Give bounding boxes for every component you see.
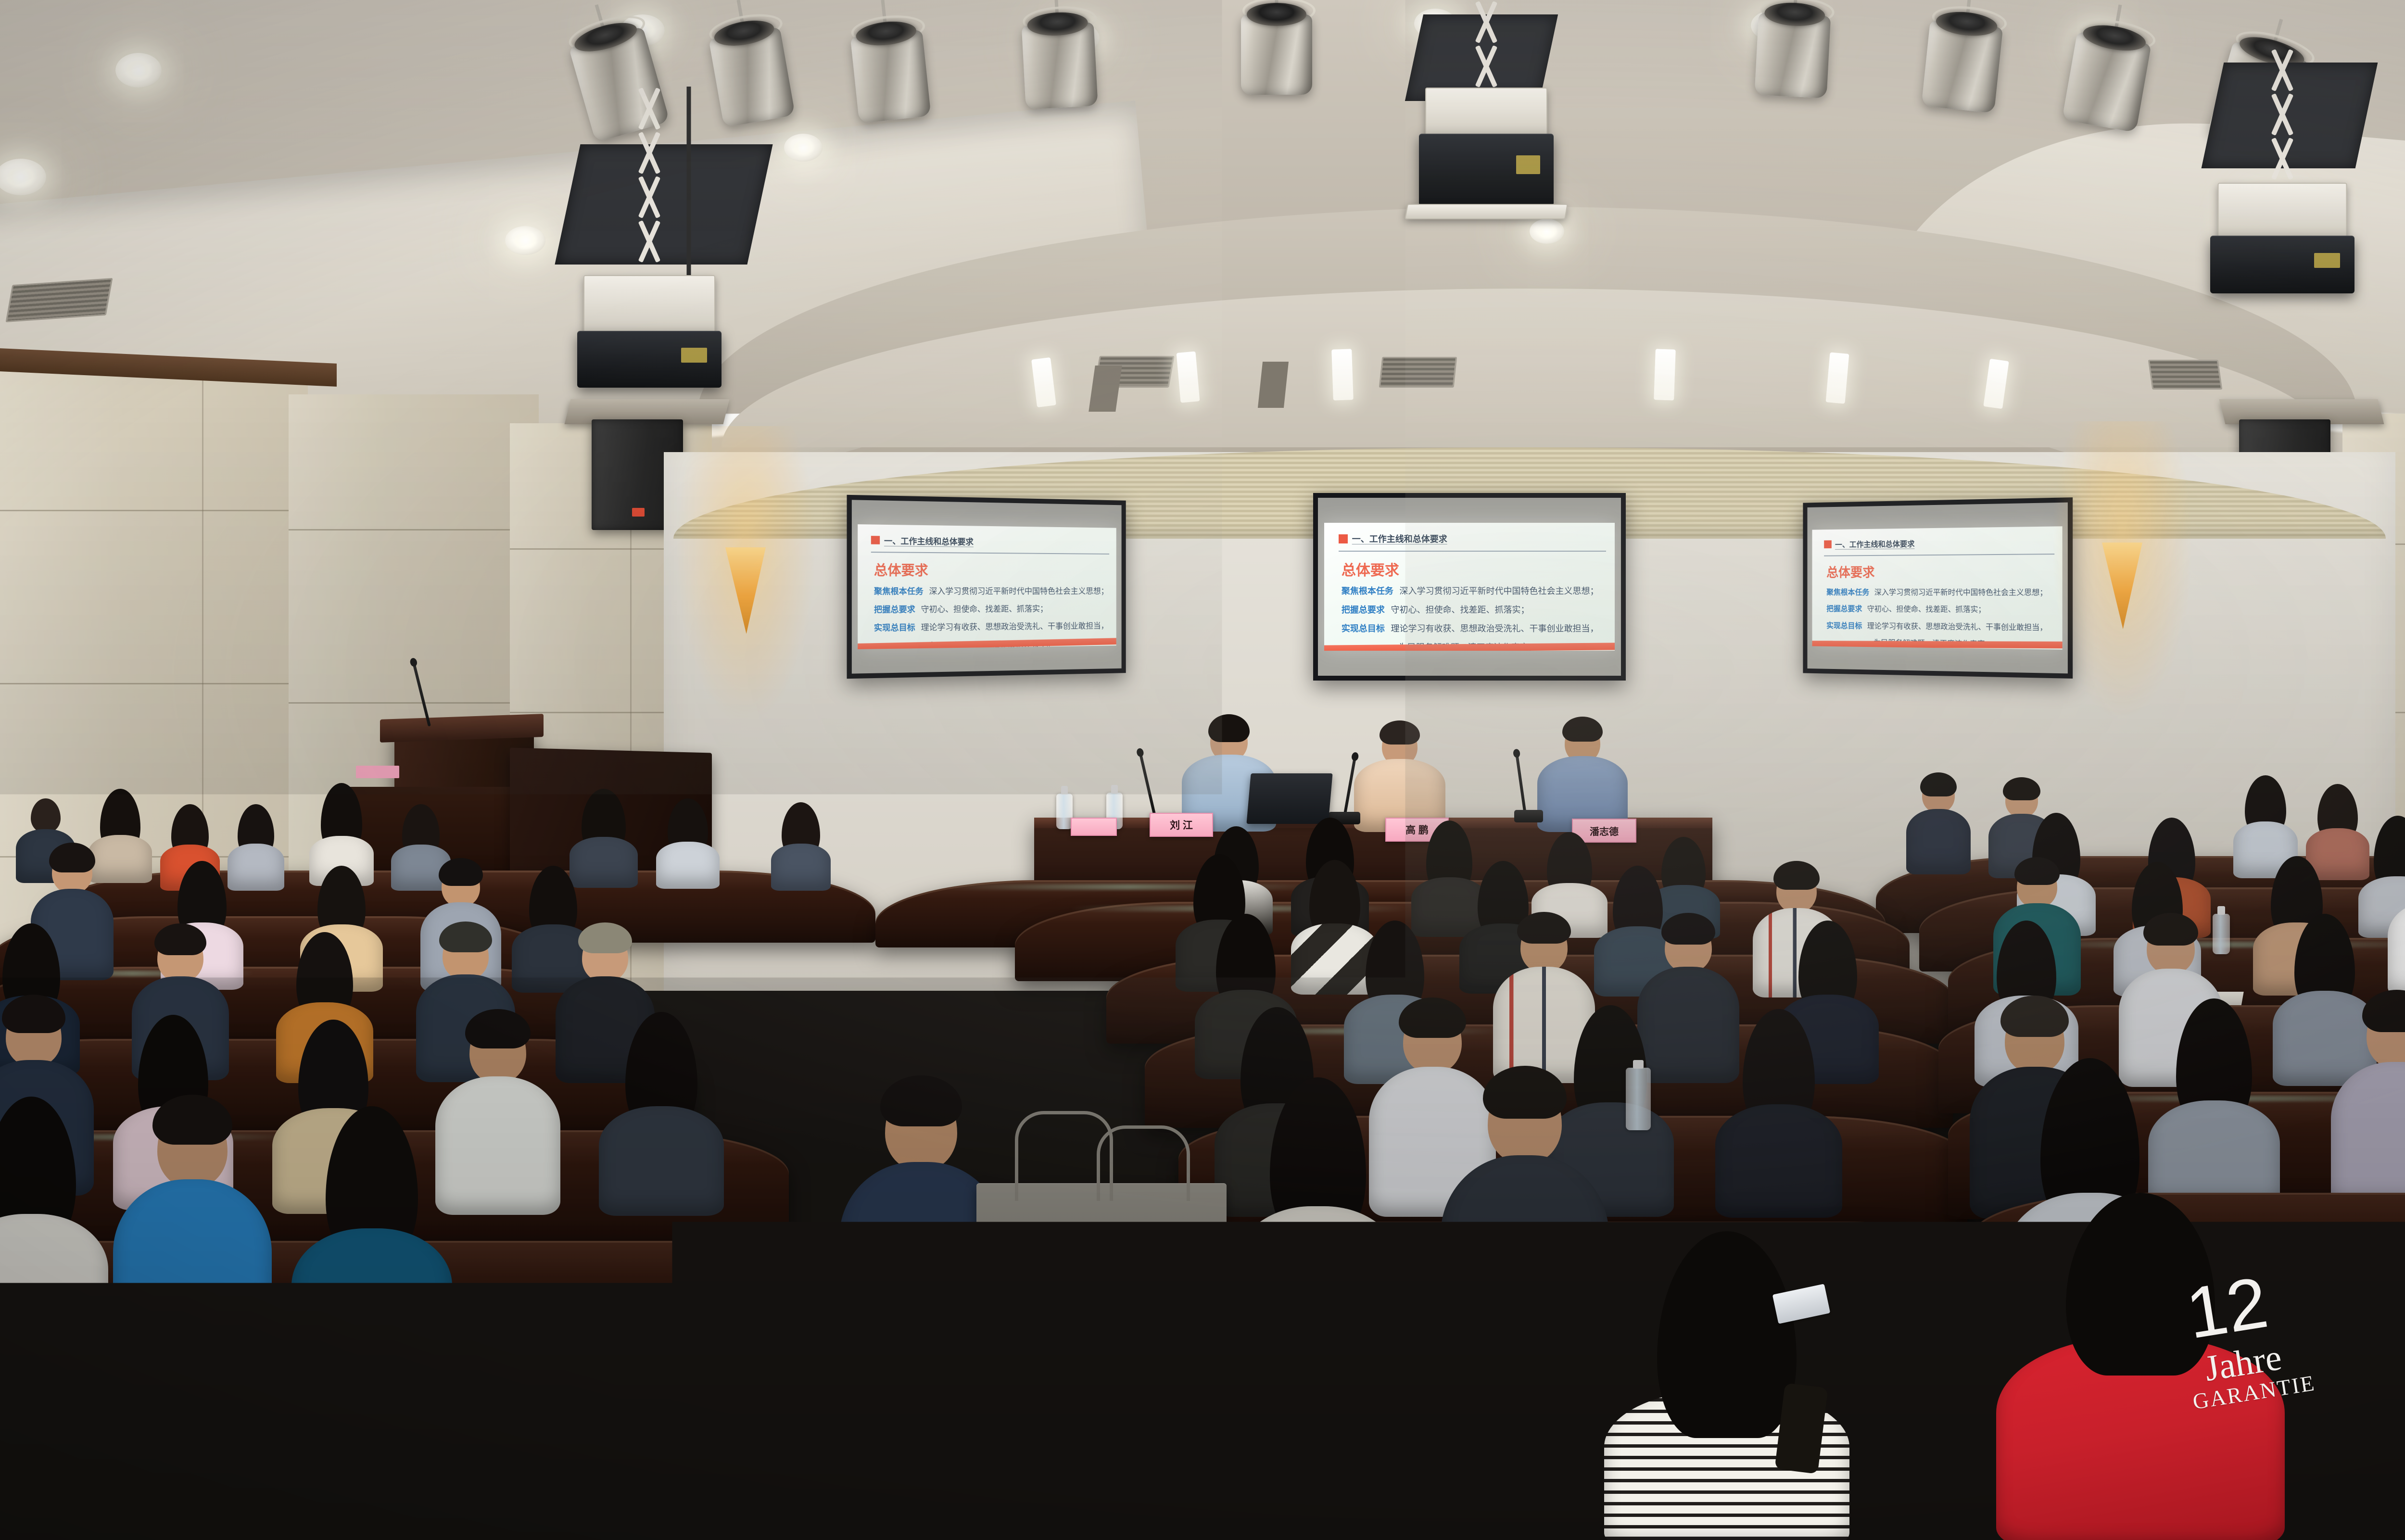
hair	[1657, 1231, 1797, 1438]
presenter-3	[1530, 717, 1635, 831]
projection-screen-right: 一、工作主线和总体要求 总体要求 聚焦根本任务 深入学习贯彻习近平新时代中国特色…	[1803, 497, 2073, 679]
slide-header-title: 一、工作主线和总体要求	[1352, 532, 1447, 545]
hvac-vent-icon	[5, 278, 113, 322]
slide-rows: 聚焦根本任务 深入学习贯彻习近平新时代中国特色社会主义思想； 把握总要求 守初心…	[1826, 585, 2051, 649]
slide-rows: 聚焦根本任务 深入学习贯彻习近平新时代中国特色社会主义思想； 把握总要求 守初心…	[1342, 584, 1603, 651]
slide-bullet-square	[871, 536, 880, 545]
laptop	[1246, 773, 1332, 824]
jacket-print: 12 Jahre GARANTIE	[2145, 1259, 2319, 1418]
slide-row: 实现总目标 理论学习有收获、思想政治受洗礼、干事创业敢担当，	[874, 619, 1107, 633]
slide-row: 聚焦根本任务 深入学习贯彻习近平新时代中国特色社会主义思想；	[1826, 585, 2051, 597]
stage-spotlight-icon	[1919, 0, 2006, 132]
projector-lift-right	[2203, 48, 2362, 356]
stage-spotlight-icon	[1754, 0, 1833, 115]
slide-rule	[1824, 554, 2054, 556]
slide-row: 把握总要求 守初心、担使命、找差距、抓落实；	[1826, 602, 2051, 615]
hair	[1208, 714, 1250, 742]
slide-row: 聚焦根本任务 深入学习贯彻习近平新时代中国特色社会主义思想；	[874, 584, 1107, 597]
slide-footer-bar	[1812, 641, 2063, 648]
hair	[1562, 717, 1603, 742]
downlight-icon	[505, 226, 545, 255]
audience-person	[596, 1012, 726, 1213]
wall-sconce-left	[725, 547, 766, 634]
projection-screen-center: 一、工作主线和总体要求 总体要求 聚焦根本任务 深入学习贯彻习近平新时代中国特色…	[1313, 493, 1626, 681]
audience-person-striped-top	[1602, 1231, 1852, 1540]
audience-person	[2386, 859, 2405, 995]
audience-person	[654, 798, 721, 885]
slide-rule	[1339, 551, 1606, 552]
downlight-icon	[784, 134, 823, 162]
slide-row: 实现总目标 理论学习有收获、思想政治受洗礼、干事创业敢担当，	[1826, 619, 2051, 632]
projector-icon	[2210, 236, 2354, 293]
slot-light-dark-panel	[1258, 362, 1289, 408]
slide-header-title: 一、工作主线和总体要求	[1835, 538, 1914, 550]
projector-lift-center	[1414, 0, 1558, 308]
audience-person-front	[1231, 1077, 1405, 1376]
audience-person	[770, 802, 832, 887]
microphone-base	[1514, 810, 1543, 822]
audience-person-front	[0, 1097, 111, 1366]
slide-row: 聚焦根本任务 深入学习贯彻习近平新时代中国特色社会主义思想；	[1342, 584, 1603, 597]
projection-screen-left: 一、工作主线和总体要求 总体要求 聚焦根本任务 深入学习贯彻习近平新时代中国特色…	[847, 495, 1126, 679]
lecture-hall-photo: 一、工作主线和总体要求 总体要求 聚焦根本任务 深入学习贯彻习近平新时代中国特色…	[0, 0, 2405, 1540]
slot-light-icon	[1331, 349, 1354, 400]
slide-right: 一、工作主线和总体要求 总体要求 聚焦根本任务 深入学习贯彻习近平新时代中国特色…	[1812, 527, 2063, 650]
audience-person	[2328, 996, 2405, 1220]
slide-row: 把握总要求 守初心、担使命、找差距、抓落实；	[874, 602, 1107, 615]
audience-person-front	[289, 1106, 455, 1385]
projector-icon	[577, 331, 721, 388]
wall-sconce-right	[2102, 543, 2142, 629]
slide-heading: 总体要求	[1342, 558, 1399, 580]
audience-person-front	[111, 1101, 274, 1380]
stage-spotlight-icon	[1020, 0, 1099, 127]
slide-bullet-square	[1339, 534, 1348, 543]
slide-row: 实现总目标 理论学习有收获、思想政治受洗礼、干事创业敢担当，	[1342, 622, 1603, 634]
audience-person-front	[1438, 1073, 1611, 1376]
slide-header-title: 一、工作主线和总体要求	[884, 534, 974, 547]
audience-person	[1905, 774, 1972, 871]
slide-heading: 总体要求	[1826, 562, 1874, 581]
slide-center: 一、工作主线和总体要求 总体要求 聚焦根本任务 深入学习贯彻习近平新时代中国特色…	[1324, 523, 1615, 651]
slide-bullet-square	[1824, 540, 1831, 548]
stage-spotlight-icon	[847, 0, 933, 142]
slide-row: 把握总要求 守初心、担使命、找差距、抓落实；	[1342, 603, 1603, 616]
projector-lift-left	[568, 87, 731, 394]
water-bottle	[1626, 1068, 1651, 1130]
slide-left: 一、工作主线和总体要求 总体要求 聚焦根本任务 深入学习贯彻习近平新时代中国特色…	[858, 524, 1116, 649]
name-card-label: 刘 江	[1170, 818, 1193, 832]
hvac-vent-icon	[1379, 357, 1457, 388]
handbag-handle	[1097, 1125, 1190, 1201]
name-card-blank	[1071, 818, 1117, 836]
presenter-2	[1347, 720, 1453, 831]
namecard-pink-lectern	[356, 766, 399, 778]
slide-rule	[871, 552, 1109, 555]
downlight-icon	[115, 53, 162, 88]
projector-icon	[1419, 134, 1554, 206]
hvac-vent-icon	[2148, 360, 2223, 390]
hair	[1380, 720, 1420, 745]
slot-light-icon	[1654, 349, 1676, 400]
audience-person	[1712, 1009, 1845, 1216]
slide-heading: 总体要求	[874, 559, 928, 579]
stage-spotlight-icon	[1241, 0, 1312, 111]
water-bottle	[1056, 794, 1073, 829]
